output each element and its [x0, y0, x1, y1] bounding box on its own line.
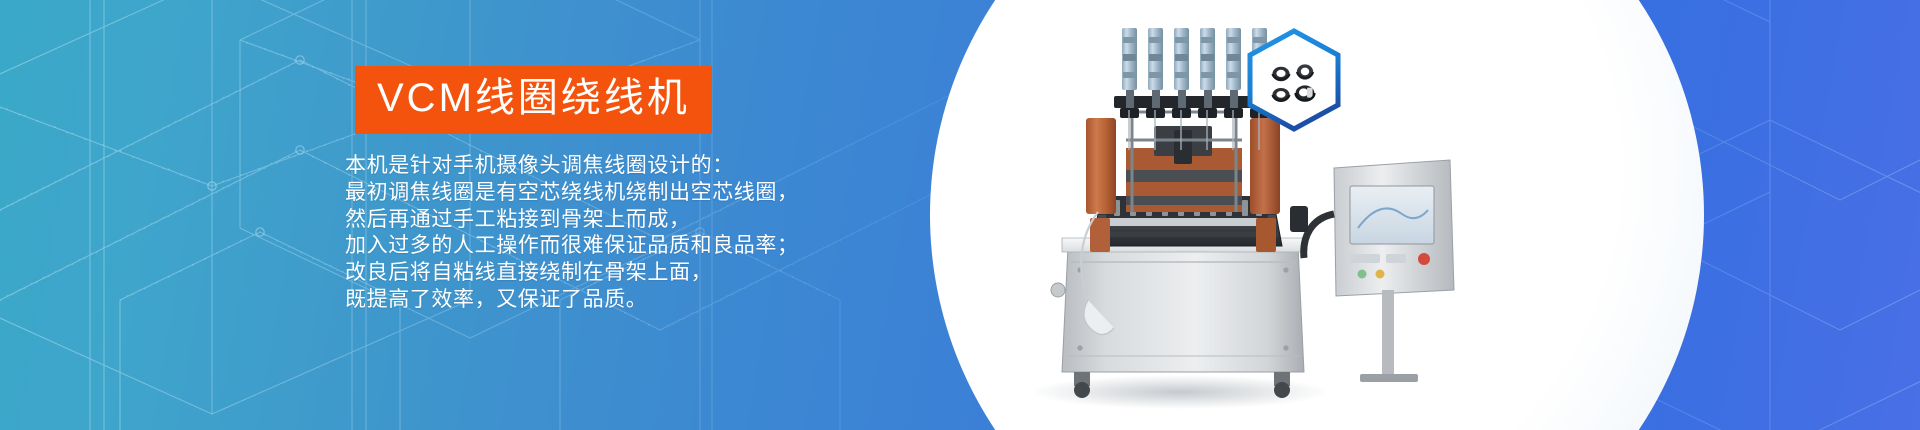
banner-description: 本机是针对手机摄像头调焦线圈设计的： 最初调焦线圈是有空芯绕线机绕制出空芯线圈，…: [345, 153, 985, 314]
description-line-5: 改良后将自粘线直接绕制在骨架上面，: [345, 260, 985, 287]
banner-title: VCM线圈绕线机: [377, 73, 690, 123]
description-line-1: 本机是针对手机摄像头调焦线圈设计的：: [345, 153, 985, 180]
machine-control-panel: [1290, 160, 1454, 382]
banner-title-box: VCM线圈绕线机: [355, 66, 712, 134]
product-hexagon-badge: [1244, 28, 1344, 132]
description-line-4: 加入过多的人工操作而很难保证品质和良品率；: [345, 233, 985, 260]
product-banner: VCM线圈绕线机 本机是针对手机摄像头调焦线圈设计的： 最初调焦线圈是有空芯绕线…: [0, 0, 1920, 430]
description-line-2: 最初调焦线圈是有空芯绕线机绕制出空芯线圈，: [345, 180, 985, 207]
hexagon-outline-icon: [1250, 31, 1338, 129]
description-line-6: 既提高了效率，又保证了品质。: [345, 287, 985, 314]
description-line-3: 然后再通过手工粘接到骨架上而成，: [345, 207, 985, 234]
